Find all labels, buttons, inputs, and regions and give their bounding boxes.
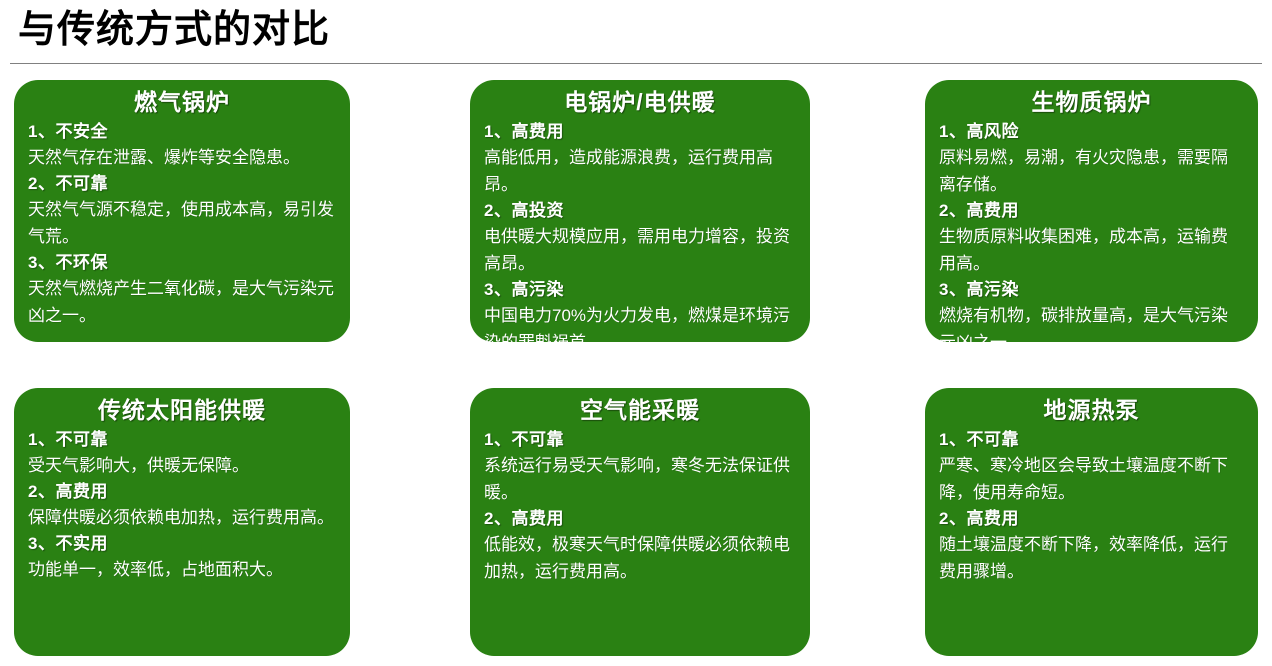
point-body: 中国电力70%为火力发电，燃煤是环境污染的罪魁祸首。 xyxy=(484,302,796,342)
point-body: 严寒、寒冷地区会导致土壤温度不断下降，使用寿命短。 xyxy=(939,452,1244,506)
point-heading: 1、高风险 xyxy=(939,119,1244,144)
card-traditional-solar-heating[interactable]: 传统太阳能供暖 1、不可靠 受天气影响大，供暖无保障。 2、高费用 保障供暖必须… xyxy=(14,388,350,656)
point-heading: 3、不实用 xyxy=(28,531,336,556)
point-body: 天然气存在泄露、爆炸等安全隐患。 xyxy=(28,144,336,171)
point-body: 功能单一，效率低，占地面积大。 xyxy=(28,556,336,583)
point-body: 电供暖大规模应用，需用电力增容，投资高昂。 xyxy=(484,223,796,277)
comparison-card-grid: 燃气锅炉 1、不安全 天然气存在泄露、爆炸等安全隐患。 2、不可靠 天然气气源不… xyxy=(0,80,1272,660)
card-title: 燃气锅炉 xyxy=(28,86,336,118)
point-heading: 3、高污染 xyxy=(484,277,796,302)
card-title: 传统太阳能供暖 xyxy=(28,394,336,426)
point-heading: 2、不可靠 xyxy=(28,171,336,196)
point-body: 高能低用，造成能源浪费，运行费用高昂。 xyxy=(484,144,796,198)
point-heading: 2、高费用 xyxy=(939,198,1244,223)
card-title: 地源热泵 xyxy=(939,394,1244,426)
card-ground-source-heat-pump[interactable]: 地源热泵 1、不可靠 严寒、寒冷地区会导致土壤温度不断下降，使用寿命短。 2、高… xyxy=(925,388,1258,656)
card-title: 生物质锅炉 xyxy=(939,86,1244,118)
page-title: 与传统方式的对比 xyxy=(18,4,330,56)
point-body: 受天气影响大，供暖无保障。 xyxy=(28,452,336,479)
card-biomass-boiler[interactable]: 生物质锅炉 1、高风险 原料易燃，易潮，有火灾隐患，需要隔离存储。 2、高费用 … xyxy=(925,80,1258,342)
card-title: 电锅炉/电供暖 xyxy=(484,86,796,118)
point-body: 生物质原料收集困难，成本高，运输费用高。 xyxy=(939,223,1244,277)
card-gas-boiler[interactable]: 燃气锅炉 1、不安全 天然气存在泄露、爆炸等安全隐患。 2、不可靠 天然气气源不… xyxy=(14,80,350,342)
point-heading: 2、高费用 xyxy=(939,506,1244,531)
card-air-source-heating[interactable]: 空气能采暖 1、不可靠 系统运行易受天气影响，寒冬无法保证供暖。 2、高费用 低… xyxy=(470,388,810,656)
card-electric-boiler[interactable]: 电锅炉/电供暖 1、高费用 高能低用，造成能源浪费，运行费用高昂。 2、高投资 … xyxy=(470,80,810,342)
point-body: 低能效，极寒天气时保障供暖必须依赖电加热，运行费用高。 xyxy=(484,531,796,585)
point-heading: 3、高污染 xyxy=(939,277,1244,302)
point-heading: 2、高费用 xyxy=(484,506,796,531)
point-heading: 2、高费用 xyxy=(28,479,336,504)
point-body: 原料易燃，易潮，有火灾隐患，需要隔离存储。 xyxy=(939,144,1244,198)
point-body: 天然气气源不稳定，使用成本高，易引发气荒。 xyxy=(28,196,336,250)
point-heading: 1、不可靠 xyxy=(484,427,796,452)
point-heading: 1、高费用 xyxy=(484,119,796,144)
title-divider xyxy=(10,63,1262,64)
point-body: 系统运行易受天气影响，寒冬无法保证供暖。 xyxy=(484,452,796,506)
point-heading: 1、不安全 xyxy=(28,119,336,144)
point-heading: 1、不可靠 xyxy=(28,427,336,452)
point-body: 天然气燃烧产生二氧化碳，是大气污染元凶之一。 xyxy=(28,275,336,329)
point-heading: 2、高投资 xyxy=(484,198,796,223)
point-heading: 3、不环保 xyxy=(28,250,336,275)
point-heading: 1、不可靠 xyxy=(939,427,1244,452)
point-body: 保障供暖必须依赖电加热，运行费用高。 xyxy=(28,504,336,531)
slide-root: 与传统方式的对比 燃气锅炉 1、不安全 天然气存在泄露、爆炸等安全隐患。 2、不… xyxy=(0,0,1272,666)
card-title: 空气能采暖 xyxy=(484,394,796,426)
point-body: 随土壤温度不断下降，效率降低，运行费用骤增。 xyxy=(939,531,1244,585)
point-body: 燃烧有机物，碳排放量高，是大气污染元凶之一。 xyxy=(939,302,1244,342)
